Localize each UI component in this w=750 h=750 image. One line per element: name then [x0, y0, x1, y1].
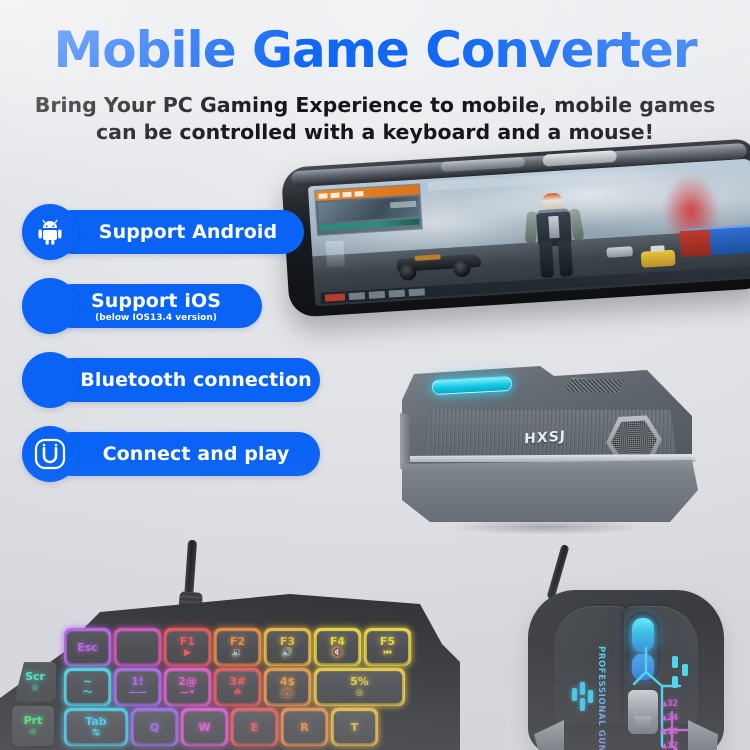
key-glow: Tab↹ [64, 708, 128, 746]
plug-and-play-icon [22, 426, 78, 482]
game-ammo-indicator [325, 240, 345, 267]
key-label: R [300, 722, 308, 733]
gaming-mouse-product-photo: PROFESSIONAL GUN SHOOTER ▲32▲24▲16▲12 [512, 578, 742, 750]
key-label: Q [150, 722, 159, 733]
key-3[interactable]: 3#☘ [217, 671, 258, 703]
game-converter-device: HXSJ [392, 364, 702, 530]
game-crate-red [679, 229, 711, 257]
key-secondary-icon: 🔉 [232, 649, 243, 658]
mouse-shell: PROFESSIONAL GUN SHOOTER ▲32▲24▲16▲12 [528, 590, 724, 750]
key-e[interactable]: E [234, 711, 275, 743]
key-label: 3# [229, 676, 246, 687]
key-2[interactable]: 2@—• [167, 671, 208, 703]
key-glow: F2🔉 [214, 628, 261, 666]
badge-label: Support Android [99, 221, 277, 243]
badge-pill: Support Android [50, 210, 304, 254]
keyboard-qwerty-row: Tab↹QWERT [64, 708, 378, 746]
key-label: Esc [77, 642, 98, 653]
mouse-dpi-indicator-list: ▲32▲24▲16▲12 [638, 698, 678, 750]
key-secondary-icon: 🔊 [282, 649, 293, 658]
device-front-face [402, 460, 698, 522]
key-scroll-lock[interactable]: Scr ☼ [14, 662, 56, 702]
keyboard-function-row: EscF1▶F2🔉F3🔊F4🔇F5⏮ [64, 628, 411, 666]
key-glow: 4$💼 [264, 668, 311, 706]
key-glow: E [231, 708, 278, 746]
badge-label: Bluetooth connection [80, 369, 312, 391]
android-robot-icon [22, 204, 78, 260]
brightness-icon: ☼ [31, 684, 40, 694]
key-q[interactable]: Q [134, 711, 175, 743]
key-t[interactable]: T [334, 711, 375, 743]
key-label: ~ [83, 676, 92, 687]
brightness-dots-icon: ☼ [29, 728, 38, 738]
key-glow: W [181, 708, 228, 746]
mouse-side-text: PROFESSIONAL GUN SHOOTER [596, 646, 606, 750]
key-5[interactable]: 5%◎ [317, 671, 402, 703]
dpi-level: ▲16 [638, 726, 678, 740]
key-label: 4$ [280, 676, 295, 687]
key-glow: F5⏮ [364, 628, 411, 666]
key-glow: F1▶ [164, 628, 211, 666]
dpi-level: ▲12 [638, 740, 678, 750]
key-label: 5% [350, 676, 369, 687]
keyboard-number-row: ~〜1!——2@—•3#☘4$💼5%◎ [64, 668, 405, 706]
key-r[interactable]: R [284, 711, 325, 743]
key-glow [114, 628, 161, 666]
mouse-left-flank [534, 720, 564, 750]
key-label: 1! [131, 676, 144, 687]
badge-note: (below IOS13.4 version) [95, 313, 217, 323]
key-secondary-icon: —• [180, 689, 195, 698]
key-label: 2@ [178, 676, 197, 687]
key-secondary-icon: ☘ [233, 689, 241, 698]
key-label: F5 [380, 636, 395, 647]
badge-pill: Connect and play [50, 432, 320, 476]
dpi-level: ▲32 [638, 698, 678, 712]
key-label: T [351, 722, 359, 733]
key-secondary-icon: 💼 [282, 689, 293, 698]
page-title: Mobile Game Converter [0, 25, 750, 75]
key-f2[interactable]: F2🔉 [217, 631, 258, 663]
apple-icon [22, 278, 78, 334]
key-glow: F4🔇 [314, 628, 361, 666]
key-label: F3 [280, 636, 295, 647]
key-blank[interactable] [117, 631, 158, 663]
badge-pill: Bluetooth connection [50, 358, 320, 402]
key-glow: 3#☘ [214, 668, 261, 706]
key-glow: ~〜 [64, 668, 111, 706]
key-f3[interactable]: F3🔊 [267, 631, 308, 663]
key-secondary-icon: ↹ [92, 729, 100, 738]
key-label: Scr [25, 671, 45, 682]
key-secondary-icon: —— [129, 689, 147, 698]
key-[interactable]: ~〜 [67, 671, 108, 703]
key-glow: 5%◎ [314, 668, 405, 706]
device-left-edge [400, 413, 410, 471]
key-tab[interactable]: Tab↹ [67, 711, 125, 743]
key-secondary-icon: 〜 [83, 689, 92, 698]
smartphone-product-photo [281, 138, 750, 335]
badge-label: Connect and play [103, 443, 290, 465]
key-label: Prt [24, 715, 43, 726]
key-secondary-icon: ▶ [184, 649, 191, 658]
key-label: W [198, 722, 210, 733]
key-label: Tab [85, 716, 106, 727]
page-subtitle: Bring Your PC Gaming Experience to mobil… [30, 92, 720, 146]
key-glow: Q [131, 708, 178, 746]
key-secondary-icon: ⏮ [383, 649, 391, 658]
phone-body [281, 138, 750, 317]
game-taxi [641, 250, 676, 268]
game-character [523, 191, 586, 278]
key-4[interactable]: 4$💼 [267, 671, 308, 703]
game-hud-panel [314, 183, 423, 236]
badge-pill: Support iOS (below IOS13.4 version) [50, 284, 262, 328]
key-glow: 1!—— [114, 668, 161, 706]
key-glow: R [281, 708, 328, 746]
key-label: F4 [330, 636, 345, 647]
key-secondary-icon: 🔇 [332, 649, 343, 658]
dpi-level: ▲24 [638, 712, 678, 726]
key-glow: 2@—• [164, 668, 211, 706]
key-glow: Esc [64, 628, 111, 666]
key-label: E [251, 722, 259, 733]
key-f1[interactable]: F1▶ [167, 631, 208, 663]
key-label: F2 [230, 636, 245, 647]
badge-label: Support iOS [91, 290, 221, 312]
gaming-keypad-product-photo: Scr ☼ Prt ☼ EscF1▶F2🔉F3🔊F4🔇F5⏮ ~〜1!——2@—… [0, 586, 460, 750]
key-print-screen[interactable]: Prt ☼ [12, 706, 54, 746]
key-f4[interactable]: F4🔇 [317, 631, 358, 663]
key-w[interactable]: W [184, 711, 225, 743]
key-label: F1 [180, 636, 195, 647]
key-f5[interactable]: F5⏮ [367, 631, 408, 663]
key-esc[interactable]: Esc [67, 631, 108, 663]
product-banner: Mobile Game Converter Bring Your PC Gami… [0, 0, 750, 750]
game-distant-vehicle [606, 246, 633, 258]
key-glow: T [331, 708, 378, 746]
key-1[interactable]: 1!—— [117, 671, 158, 703]
bluetooth-icon [22, 352, 78, 408]
key-secondary-icon: ◎ [356, 689, 364, 698]
key-glow: F3🔊 [264, 628, 311, 666]
